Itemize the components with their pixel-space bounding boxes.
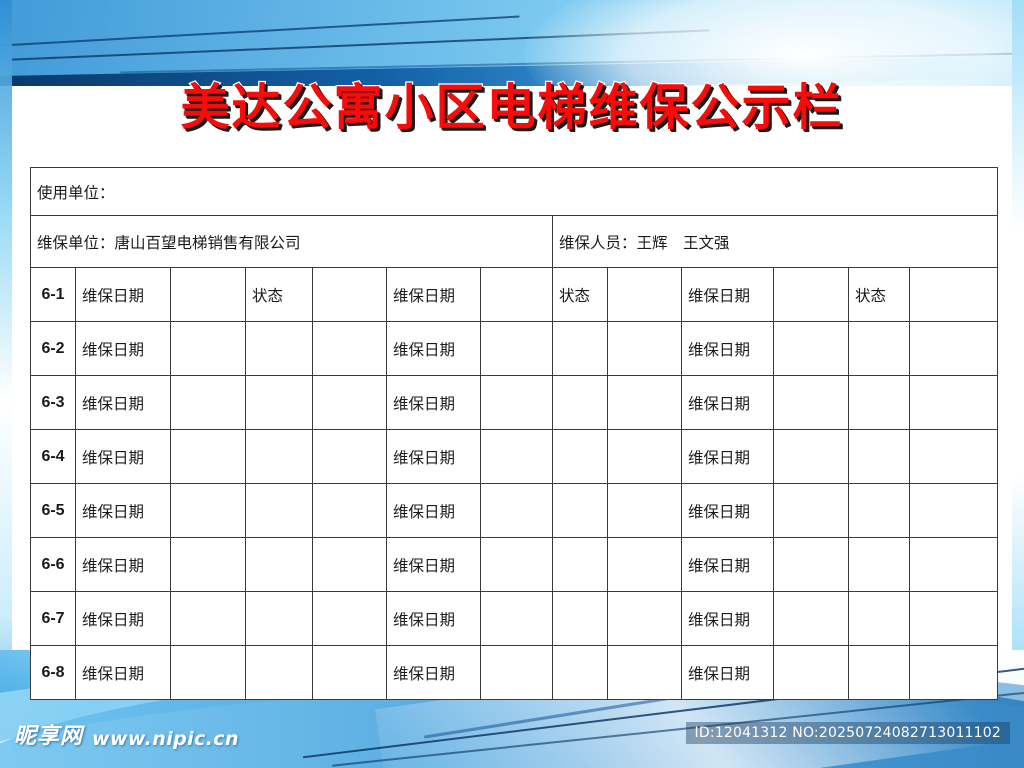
cell-status-value[interactable] <box>313 322 387 376</box>
cell-status-value[interactable] <box>910 322 998 376</box>
cell-date-value[interactable] <box>774 268 849 322</box>
cell-date-label: 维保日期 <box>387 592 481 646</box>
table-row-maint-unit: 维保单位：唐山百望电梯销售有限公司 维保人员：王辉 王文强 <box>31 216 998 268</box>
cell-status-label[interactable] <box>849 592 910 646</box>
table-row: 6-2 维保日期 维保日期 维保日期 <box>31 322 998 376</box>
cell-status-label[interactable] <box>849 538 910 592</box>
table-row: 6-7 维保日期 维保日期 维保日期 <box>31 592 998 646</box>
cell-status-value[interactable] <box>313 484 387 538</box>
site-url-text: www.nipic.cn <box>92 728 239 750</box>
cell-date-label: 维保日期 <box>387 376 481 430</box>
table-row: 6-1 维保日期 状态 维保日期 状态 维保日期 状态 <box>31 268 998 322</box>
cell-status-value[interactable] <box>910 646 998 700</box>
cell-date-value[interactable] <box>481 268 553 322</box>
cell-status-label[interactable] <box>553 538 608 592</box>
cell-date-label: 维保日期 <box>387 646 481 700</box>
cell-status-label[interactable] <box>849 646 910 700</box>
cell-date-label: 维保日期 <box>76 322 171 376</box>
cell-date-value[interactable] <box>171 430 246 484</box>
cell-status-label[interactable] <box>553 646 608 700</box>
cell-status-label[interactable] <box>246 592 313 646</box>
poster-title: 美达公寓小区电梯维保公示栏 <box>180 68 843 139</box>
cell-date-value[interactable] <box>171 592 246 646</box>
cell-date-value[interactable] <box>171 268 246 322</box>
cell-status-value[interactable] <box>608 268 682 322</box>
cell-status-label[interactable] <box>246 646 313 700</box>
cell-date-value[interactable] <box>481 376 553 430</box>
cell-status-label[interactable] <box>553 322 608 376</box>
cell-date-label: 维保日期 <box>76 268 171 322</box>
maintenance-table-container: 使用单位： 维保单位：唐山百望电梯销售有限公司 维保人员：王辉 王文强 6-1 … <box>30 167 997 700</box>
cell-date-label: 维保日期 <box>76 484 171 538</box>
cell-status-value[interactable] <box>313 592 387 646</box>
cell-date-label: 维保日期 <box>682 268 774 322</box>
cell-status-value[interactable] <box>910 430 998 484</box>
cell-status-value[interactable] <box>910 376 998 430</box>
row-id-6-5: 6-5 <box>31 484 76 538</box>
site-logo-text: 昵享网 <box>14 718 83 750</box>
cell-date-value[interactable] <box>481 592 553 646</box>
cell-status-label[interactable] <box>849 322 910 376</box>
cell-status-value[interactable] <box>608 376 682 430</box>
cell-date-label: 维保日期 <box>76 376 171 430</box>
cell-status-label[interactable] <box>849 484 910 538</box>
cell-status-value[interactable] <box>313 538 387 592</box>
cell-date-value[interactable] <box>171 376 246 430</box>
row-id-6-4: 6-4 <box>31 430 76 484</box>
cell-status-label[interactable] <box>553 376 608 430</box>
cell-date-label: 维保日期 <box>387 268 481 322</box>
table-row: 6-5 维保日期 维保日期 维保日期 <box>31 484 998 538</box>
cell-date-value[interactable] <box>774 646 849 700</box>
maintenance-staff-label[interactable]: 维保人员：王辉 王文强 <box>553 216 998 268</box>
cell-status-value[interactable] <box>313 430 387 484</box>
cell-status-value[interactable] <box>910 538 998 592</box>
cell-date-label: 维保日期 <box>387 430 481 484</box>
cell-status-value[interactable] <box>910 484 998 538</box>
table-row: 6-4 维保日期 维保日期 维保日期 <box>31 430 998 484</box>
cell-date-value[interactable] <box>774 430 849 484</box>
poster-title-area: 美达公寓小区电梯维保公示栏 <box>0 68 1024 139</box>
use-unit-label[interactable]: 使用单位： <box>31 168 998 216</box>
cell-status-label[interactable] <box>246 376 313 430</box>
cell-status-label: 状态 <box>849 268 910 322</box>
maintenance-table: 使用单位： 维保单位：唐山百望电梯销售有限公司 维保人员：王辉 王文强 6-1 … <box>30 167 998 700</box>
poster-canvas: 美达公寓小区电梯维保公示栏 使用单位： 维保单位：唐山百望电梯销售有限公司 维保… <box>0 0 1024 768</box>
table-row: 6-6 维保日期 维保日期 维保日期 <box>31 538 998 592</box>
cell-date-value[interactable] <box>171 538 246 592</box>
cell-status-value[interactable] <box>608 484 682 538</box>
cell-date-label: 维保日期 <box>682 376 774 430</box>
row-id-6-7: 6-7 <box>31 592 76 646</box>
cell-status-label: 状态 <box>553 268 608 322</box>
cell-date-label: 维保日期 <box>682 538 774 592</box>
cell-date-value[interactable] <box>481 538 553 592</box>
cell-status-value[interactable] <box>608 430 682 484</box>
cell-date-label: 维保日期 <box>682 430 774 484</box>
cell-status-label[interactable] <box>246 538 313 592</box>
cell-status-label[interactable] <box>553 592 608 646</box>
cell-date-value[interactable] <box>481 322 553 376</box>
cell-date-label: 维保日期 <box>387 484 481 538</box>
cell-status-value[interactable] <box>313 268 387 322</box>
cell-status-label[interactable] <box>849 430 910 484</box>
cell-status-label[interactable] <box>246 322 313 376</box>
cell-date-label: 维保日期 <box>76 430 171 484</box>
cell-date-value[interactable] <box>481 484 553 538</box>
table-row: 6-3 维保日期 维保日期 维保日期 <box>31 376 998 430</box>
cell-date-value[interactable] <box>774 376 849 430</box>
cell-date-value[interactable] <box>774 592 849 646</box>
cell-date-label: 维保日期 <box>682 646 774 700</box>
site-watermark: 昵享网 www.nipic.cn <box>14 718 239 750</box>
cell-date-label: 维保日期 <box>682 592 774 646</box>
cell-date-value[interactable] <box>171 322 246 376</box>
cell-status-value[interactable] <box>313 646 387 700</box>
cell-date-label: 维保日期 <box>76 538 171 592</box>
cell-date-value[interactable] <box>774 322 849 376</box>
row-id-6-6: 6-6 <box>31 538 76 592</box>
row-id-6-3: 6-3 <box>31 376 76 430</box>
cell-date-value[interactable] <box>171 646 246 700</box>
cell-date-value[interactable] <box>171 484 246 538</box>
row-id-6-1: 6-1 <box>31 268 76 322</box>
cell-date-label: 维保日期 <box>76 592 171 646</box>
cell-status-label: 状态 <box>246 268 313 322</box>
row-id-6-8: 6-8 <box>31 646 76 700</box>
cell-status-value[interactable] <box>313 376 387 430</box>
maintenance-table-body: 使用单位： 维保单位：唐山百望电梯销售有限公司 维保人员：王辉 王文强 6-1 … <box>31 168 998 700</box>
cell-date-label: 维保日期 <box>76 646 171 700</box>
cell-date-label: 维保日期 <box>682 484 774 538</box>
table-row-use-unit: 使用单位： <box>31 168 998 216</box>
cell-status-value[interactable] <box>608 646 682 700</box>
cell-status-value[interactable] <box>608 592 682 646</box>
cell-status-label[interactable] <box>553 430 608 484</box>
cell-status-label[interactable] <box>553 484 608 538</box>
cell-date-value[interactable] <box>481 646 553 700</box>
cell-status-value[interactable] <box>910 268 998 322</box>
cell-status-label[interactable] <box>246 430 313 484</box>
row-id-6-2: 6-2 <box>31 322 76 376</box>
cell-date-label: 维保日期 <box>682 322 774 376</box>
cell-status-label[interactable] <box>849 376 910 430</box>
cell-date-value[interactable] <box>481 430 553 484</box>
maintenance-unit-label[interactable]: 维保单位：唐山百望电梯销售有限公司 <box>31 216 553 268</box>
cell-status-value[interactable] <box>910 592 998 646</box>
cell-status-label[interactable] <box>246 484 313 538</box>
table-row: 6-8 维保日期 维保日期 维保日期 <box>31 646 998 700</box>
cell-date-value[interactable] <box>774 484 849 538</box>
cell-date-value[interactable] <box>774 538 849 592</box>
cell-date-label: 维保日期 <box>387 322 481 376</box>
image-id-watermark: ID:12041312 NO:20250724082713011102 <box>686 722 1010 744</box>
cell-status-value[interactable] <box>608 322 682 376</box>
cell-date-label: 维保日期 <box>387 538 481 592</box>
cell-status-value[interactable] <box>608 538 682 592</box>
